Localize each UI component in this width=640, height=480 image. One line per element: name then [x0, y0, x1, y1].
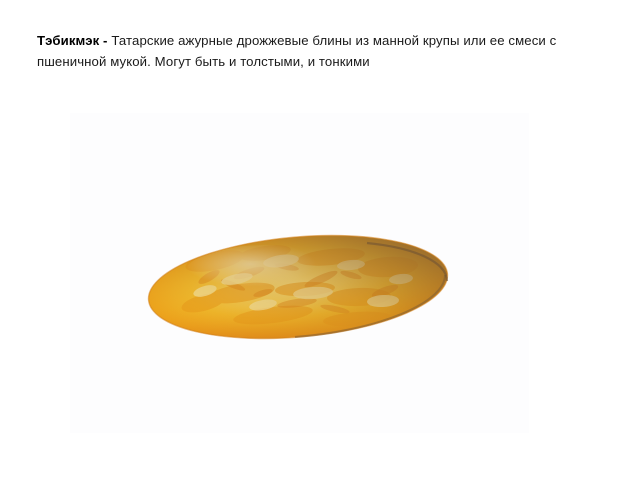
pancake-photo — [145, 231, 451, 347]
caption-description: Татарские ажурные дрожжевые блины из ман… — [37, 33, 556, 69]
pancake-icon — [145, 231, 451, 347]
caption-term: Тэбикмэк - — [37, 33, 108, 48]
slide-canvas: Тэбикмэк - Татарские ажурные дрожжевые б… — [0, 0, 640, 480]
slide-caption: Тэбикмэк - Татарские ажурные дрожжевые б… — [37, 30, 605, 72]
